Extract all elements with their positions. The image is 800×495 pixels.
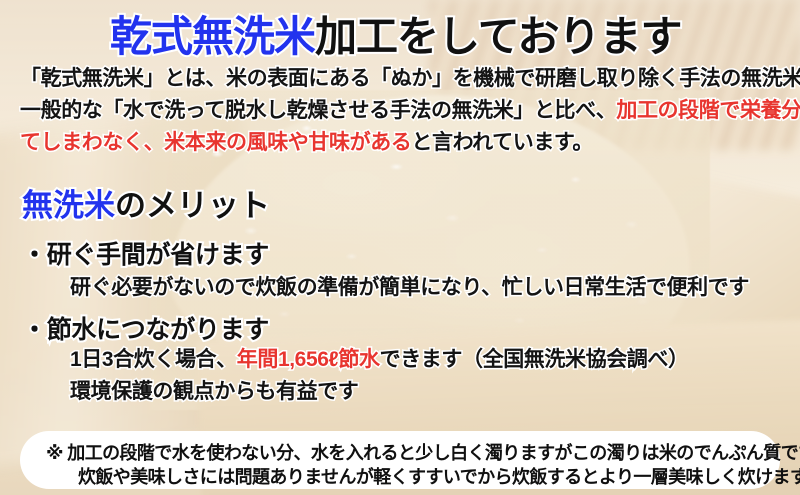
merit-1-detail-text: 研ぐ必要がないので炊飯の準備が簡単になり、忙しい日常生活で便利です [70, 276, 749, 299]
page-title-blue: 乾式無洗米 [110, 13, 315, 60]
footnote-line-1: ※ 加工の段階で水を使わない分、水を入れると少し白く濁りますがこの濁りは米のでん… [46, 444, 800, 462]
merit-2-bullet: ・節水につながります [22, 318, 269, 343]
description-line-1: 「乾式無洗米」とは、米の表面にある「ぬか」を機械で研磨し取り除く手法の無洗米です… [20, 68, 800, 89]
merit-heading-blue: 無洗米 [22, 188, 115, 223]
merit-1-bullet-text: ・研ぐ手間が省けます [22, 241, 269, 269]
merit-2-detail-2: 環境保護の観点からも有益です [70, 381, 358, 402]
page-title-black: 加工をしております [315, 13, 681, 60]
merit-heading-black: のメリット [115, 188, 270, 223]
merit-2-detail-highlight: 年間1,656ℓ節水 [237, 348, 380, 371]
merit-heading: 無洗米のメリット [22, 190, 270, 221]
description-line-3-highlight: てしまわなく、米本来の風味や甘味がある [20, 131, 411, 154]
merit-2-detail-pre: 1日3合炊く場合、 [70, 348, 237, 371]
merit-2-detail: 1日3合炊く場合、年間1,656ℓ節水できます（全国無洗米協会調べ） [70, 349, 689, 370]
description-line-2-highlight: 加工の段階で栄養分が流れ [616, 99, 800, 122]
footnote-box: ※ 加工の段階で水を使わない分、水を入れると少し白く濁りますがこの濁りは米のでん… [20, 431, 780, 489]
merit-2-detail-2-text: 環境保護の観点からも有益です [70, 380, 358, 403]
merit-2-bullet-text: ・節水につながります [22, 316, 269, 344]
promo-poster: 乾式無洗米加工をしております 「乾式無洗米」とは、米の表面にある「ぬか」を機械で… [0, 0, 800, 495]
description-line-2: 一般的な「水で洗って脱水し乾燥させる手法の無洗米」と比べ、加工の段階で栄養分が流… [20, 100, 800, 121]
description-line-3: てしまわなく、米本来の風味や甘味があると言われています。 [20, 132, 593, 153]
page-title: 乾式無洗米加工をしております [110, 16, 682, 58]
description-line-1-text: 「乾式無洗米」とは、米の表面にある「ぬか」を機械で研磨し取り除く手法の無洗米です… [20, 67, 800, 90]
merit-1-bullet: ・研ぐ手間が省けます [22, 243, 269, 268]
merit-2-detail-post: できます（全国無洗米協会調べ） [380, 348, 689, 371]
merit-1-detail: 研ぐ必要がないので炊飯の準備が簡単になり、忙しい日常生活で便利です [70, 277, 749, 298]
footnote-line-2: 炊飯や美味しさには問題ありませんが軽くすすいでから炊飯するとより一層美味しく炊け… [78, 468, 800, 486]
description-line-3-black: と言われています。 [411, 131, 593, 154]
description-line-2-black: 一般的な「水で洗って脱水し乾燥させる手法の無洗米」と比べ、 [20, 99, 616, 122]
